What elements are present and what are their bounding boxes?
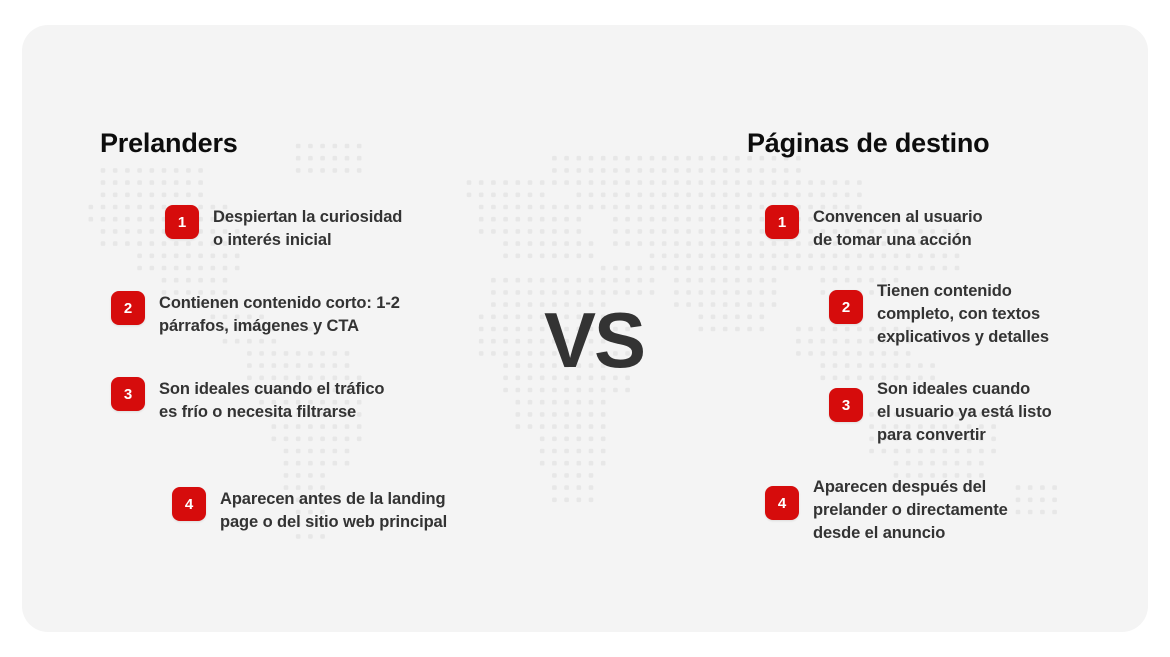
list-item-right-1: 1 Convencen al usuario de tomar una acci… bbox=[765, 205, 982, 252]
list-item-right-4: 4 Aparecen después del prelander o direc… bbox=[765, 475, 1008, 545]
item-number-badge: 3 bbox=[111, 377, 145, 411]
list-item-label: Tienen contenido completo, con textos ex… bbox=[877, 279, 1049, 349]
item-number-badge: 2 bbox=[829, 290, 863, 324]
item-number-badge: 4 bbox=[765, 486, 799, 520]
list-item-left-4: 4 Aparecen antes de la landing page o de… bbox=[172, 487, 447, 534]
list-item-right-2: 2 Tienen contenido completo, con textos … bbox=[829, 279, 1049, 349]
item-number-badge: 3 bbox=[829, 388, 863, 422]
page-title-prelanders: Prelanders bbox=[100, 128, 238, 159]
list-item-left-3: 3 Son ideales cuando el tráfico es frío … bbox=[111, 377, 384, 424]
list-item-left-2: 2 Contienen contenido corto: 1-2 párrafo… bbox=[111, 291, 400, 338]
list-item-right-3: 3 Son ideales cuando el usuario ya está … bbox=[829, 377, 1052, 447]
list-item-label: Son ideales cuando el tráfico es frío o … bbox=[159, 377, 384, 424]
item-number-badge: 1 bbox=[165, 205, 199, 239]
list-item-label: Aparecen antes de la landing page o del … bbox=[220, 487, 447, 534]
list-item-label: Contienen contenido corto: 1-2 párrafos,… bbox=[159, 291, 400, 338]
infographic-card: Prelanders 1 Despiertan la curiosidad o … bbox=[22, 25, 1148, 632]
list-item-label: Despiertan la curiosidad o interés inici… bbox=[213, 205, 402, 252]
item-number-badge: 1 bbox=[765, 205, 799, 239]
page-title-paginas-de-destino: Páginas de destino bbox=[747, 128, 989, 159]
list-item-label: Aparecen después del prelander o directa… bbox=[813, 475, 1008, 545]
versus-label: VS bbox=[514, 301, 674, 379]
item-number-badge: 4 bbox=[172, 487, 206, 521]
list-item-left-1: 1 Despiertan la curiosidad o interés ini… bbox=[165, 205, 402, 252]
list-item-label: Convencen al usuario de tomar una acción bbox=[813, 205, 982, 252]
item-number-badge: 2 bbox=[111, 291, 145, 325]
list-item-label: Son ideales cuando el usuario ya está li… bbox=[877, 377, 1052, 447]
